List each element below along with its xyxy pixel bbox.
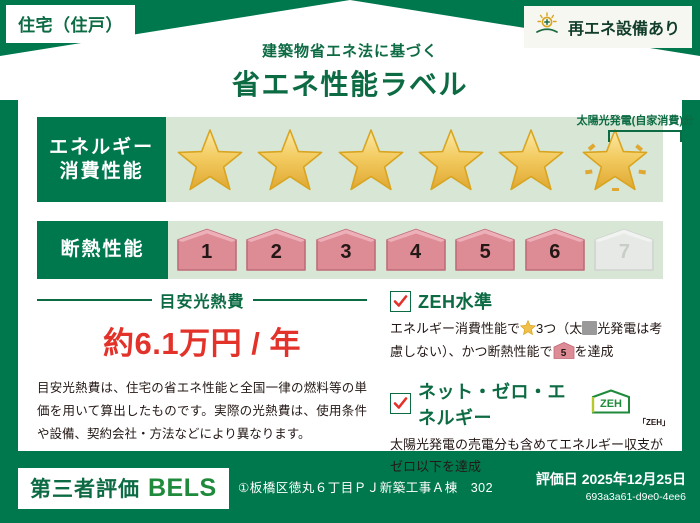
zeh-standard-text-1: エネルギー消費性能で	[390, 321, 520, 336]
insulation-grade-number: 3	[315, 241, 377, 264]
renewable-equipment-label: 再エネ設備あり	[568, 15, 680, 39]
star-filled	[498, 128, 564, 191]
evaluation-id: 693a3a61-d9e0-4ee6	[586, 491, 686, 503]
svg-text:ZEH: ZEH	[600, 398, 622, 410]
bels-name-label: BELS	[148, 474, 217, 503]
inline-star-icon	[520, 320, 536, 335]
insulation-label-text: 断熱性能	[60, 238, 144, 262]
star-filled	[418, 128, 484, 191]
star-filled	[177, 128, 243, 191]
energy-stars-container	[166, 117, 663, 202]
inline-house-grade-icon: 5	[553, 342, 575, 359]
insulation-performance-label: 断熱性能	[37, 221, 168, 279]
building-type-tag: 住宅（住戸）	[6, 5, 135, 43]
insulation-grade-badge-2: 2	[245, 228, 307, 272]
utility-cost-heading-text: 目安光熱費	[160, 288, 245, 312]
star-filled	[257, 128, 323, 191]
bels-prefix-label: 第三者評価	[30, 473, 140, 503]
energy-performance-label: 住宅（住戸） 再エネ設備あり 建築物省エネ法に基づく 省エネ性能ラベル	[0, 0, 700, 523]
energy-label-line2: 消費性能	[60, 160, 144, 184]
zeh-standard-star-count: 3つ（太	[536, 321, 582, 336]
energy-label-line1: エネルギー	[49, 136, 154, 160]
title-main: 省エネ性能ラベル	[0, 63, 700, 103]
renewable-equipment-tag: 再エネ設備あり	[524, 6, 692, 48]
zeh-standard-description: エネルギー消費性能で3つ（太光発電は考慮しない）、かつ断熱性能で5を達成	[390, 318, 670, 364]
zeh-logo-caption: 「ZEH」	[638, 417, 670, 428]
rule-right	[253, 299, 368, 301]
insulation-grade-number: 1	[176, 241, 238, 264]
zeh-standard-head: ZEH水準	[390, 288, 670, 314]
utility-cost-value: 約6.1万円 / 年	[37, 318, 367, 363]
zeh-netzero-head: ネット・ゼロ・エネルギー ZEH 「ZEH」	[390, 378, 670, 430]
utility-cost-block: 目安光熱費 約6.1万円 / 年 目安光熱費は、住宅の省エネ性能と全国一律の燃料…	[37, 288, 367, 446]
insulation-grades-container: 1234567	[168, 221, 663, 279]
insulation-performance-row: 断熱性能 1234567	[37, 221, 663, 279]
insulation-grade-badge-3: 3	[315, 228, 377, 272]
bels-evaluation-tag: 第三者評価 BELS	[18, 468, 229, 509]
property-address: ①板橋区徳丸６丁目ＰＪ新築工事Ａ棟 302	[238, 477, 493, 496]
insulation-grade-number: 6	[524, 241, 586, 264]
check-icon	[390, 393, 411, 414]
title-block: 建築物省エネ法に基づく 省エネ性能ラベル	[0, 40, 700, 103]
zeh-standard-title: ZEH水準	[418, 288, 493, 314]
insulation-grade-number: 7	[593, 241, 655, 264]
star-filled	[338, 128, 404, 191]
inline-house-grade-number: 5	[553, 345, 575, 363]
solar-consumption-caption: 太陽光発電(自家消費)分	[577, 112, 694, 128]
check-icon	[390, 291, 411, 312]
rule-left	[37, 299, 152, 301]
building-type-label: 住宅（住戸）	[18, 16, 123, 35]
insulation-grade-badge-7: 7	[593, 228, 655, 272]
insulation-grade-badge-5: 5	[454, 228, 516, 272]
utility-cost-heading: 目安光熱費	[37, 288, 367, 312]
utility-cost-note: 目安光熱費は、住宅の省エネ性能と全国一律の燃料等の単価を用いて算出したものです。…	[37, 377, 367, 446]
evaluation-date: 評価日 2025年12月25日	[536, 469, 686, 489]
redaction-block	[582, 321, 597, 335]
zeh-logo-icon: ZEH	[591, 389, 631, 419]
zeh-item-standard: ZEH水準 エネルギー消費性能で3つ（太光発電は考慮しない）、かつ断熱性能で5を…	[390, 288, 670, 364]
insulation-grade-badge-1: 1	[176, 228, 238, 272]
footer-bar: 第三者評価 BELS ①板橋区徳丸６丁目ＰＪ新築工事Ａ棟 302 評価日 202…	[0, 455, 700, 523]
energy-performance-row: エネルギー 消費性能	[37, 117, 663, 202]
solar-bracket	[608, 130, 682, 142]
zeh-standard-text-3: を達成	[575, 344, 614, 359]
insulation-grade-number: 5	[454, 241, 516, 264]
insulation-grade-badge-4: 4	[385, 228, 447, 272]
insulation-grade-number: 4	[385, 241, 447, 264]
insulation-grade-badge-6: 6	[524, 228, 586, 272]
solar-sun-icon	[534, 12, 560, 41]
insulation-grade-number: 2	[245, 241, 307, 264]
energy-performance-label: エネルギー 消費性能	[37, 117, 166, 202]
zeh-netzero-title: ネット・ゼロ・エネルギー	[418, 378, 584, 430]
